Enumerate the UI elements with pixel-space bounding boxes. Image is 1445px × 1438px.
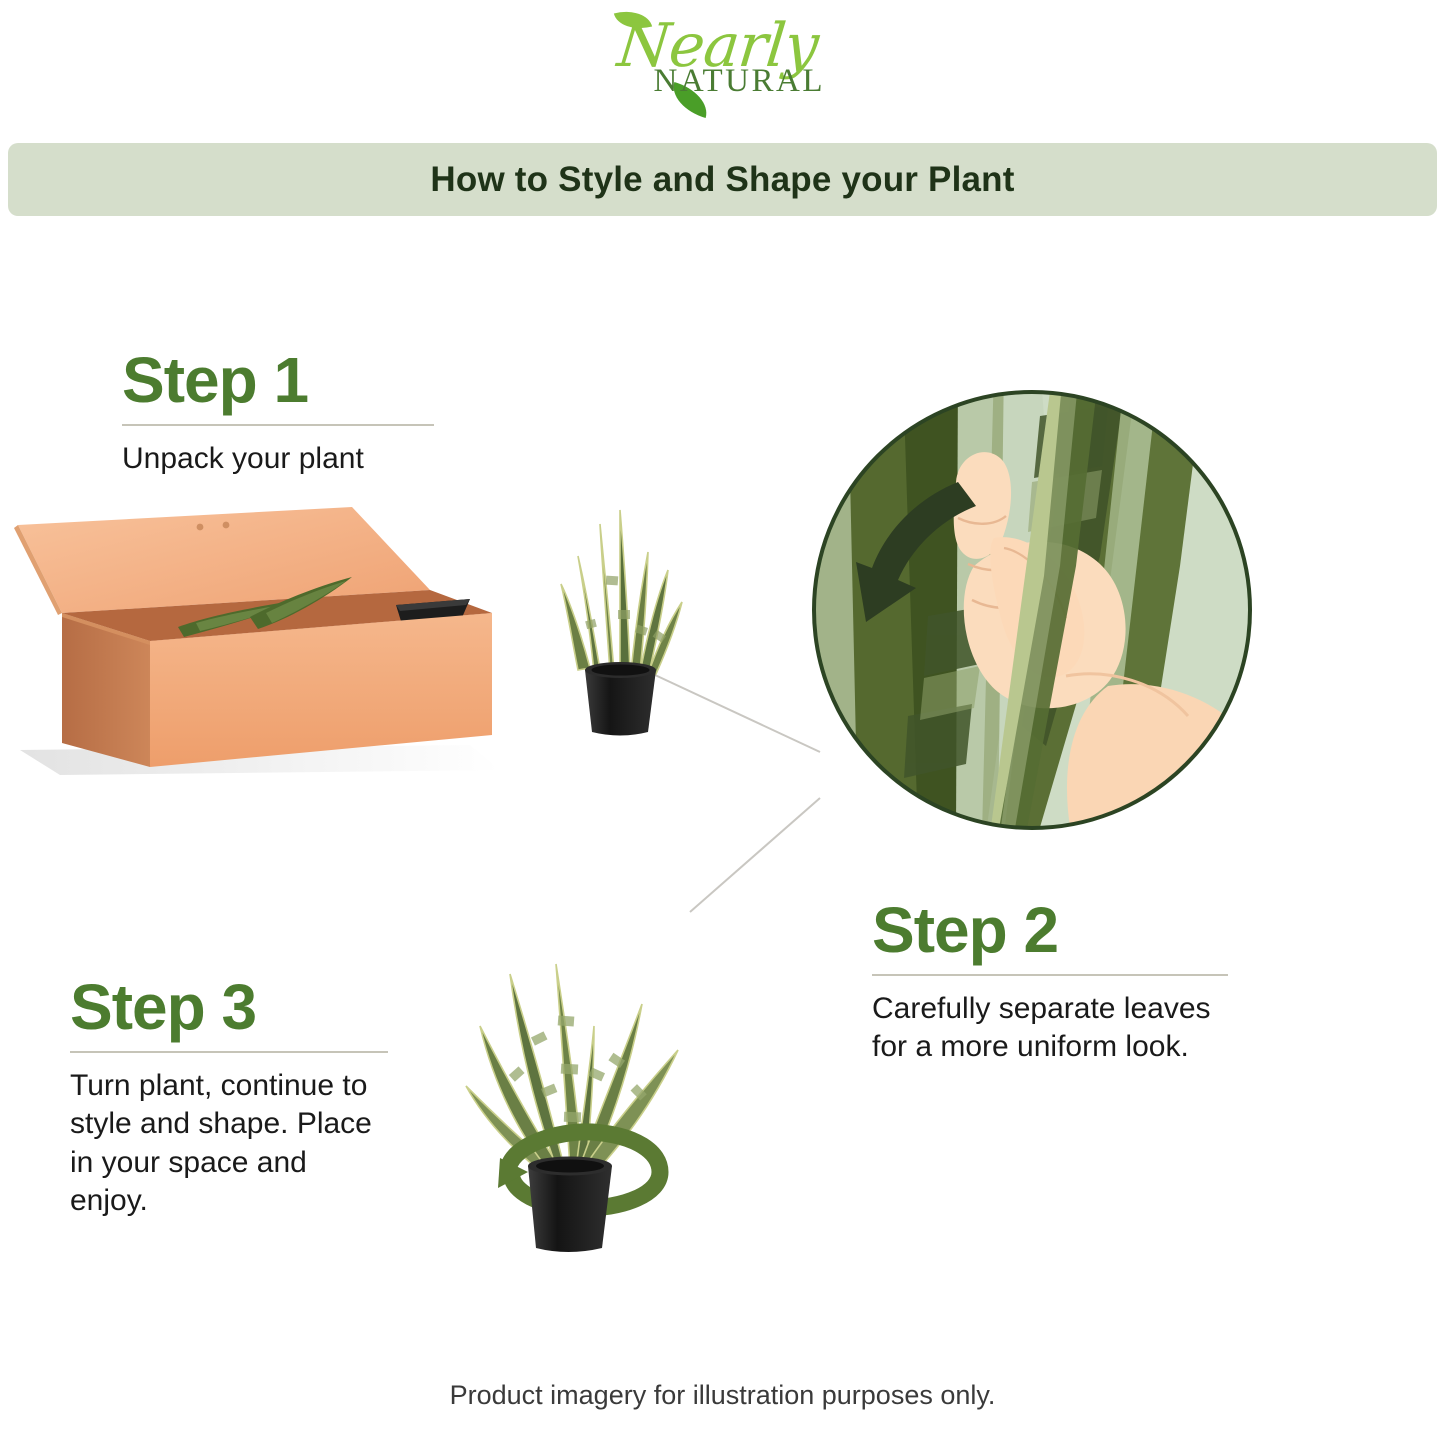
plant-leaves <box>561 510 682 674</box>
brand-word-text: NATURAL <box>654 63 826 100</box>
step-2-body: Carefully separate leaves for a more uni… <box>872 990 1232 1067</box>
infographic-page: Nearly NATURAL How to Style and Shape yo… <box>0 0 1445 1438</box>
snake-plant-upright-illustration <box>528 480 713 745</box>
step-3-text-block: Step 3 Turn plant, continue to style and… <box>70 975 392 1221</box>
plant-pot <box>585 662 656 736</box>
page-title-banner: How to Style and Shape your Plant <box>8 143 1437 216</box>
step-2-heading: Step 2 <box>872 898 1232 962</box>
page-title: How to Style and Shape your Plant <box>430 160 1014 200</box>
step-3-divider <box>70 1051 388 1053</box>
step-3-body: Turn plant, continue to style and shape.… <box>70 1067 392 1221</box>
step-2-text-block: Step 2 Carefully separate leaves for a m… <box>872 898 1232 1067</box>
open-box-illustration <box>0 495 520 785</box>
step-1-divider <box>122 424 434 426</box>
brand-logo: Nearly NATURAL <box>0 4 1445 119</box>
step-2-divider <box>872 974 1228 976</box>
snake-plant-fanned-illustration <box>440 960 695 1260</box>
footer-disclaimer: Product imagery for illustration purpose… <box>0 1380 1445 1411</box>
step-3-heading: Step 3 <box>70 975 392 1039</box>
leaf-separation-closeup-circle <box>808 386 1256 834</box>
step-1-body: Unpack your plant <box>122 440 434 478</box>
step-1-text-block: Step 1 Unpack your plant <box>122 348 434 478</box>
step-1-heading: Step 1 <box>122 348 434 412</box>
plant-pot <box>528 1157 612 1253</box>
